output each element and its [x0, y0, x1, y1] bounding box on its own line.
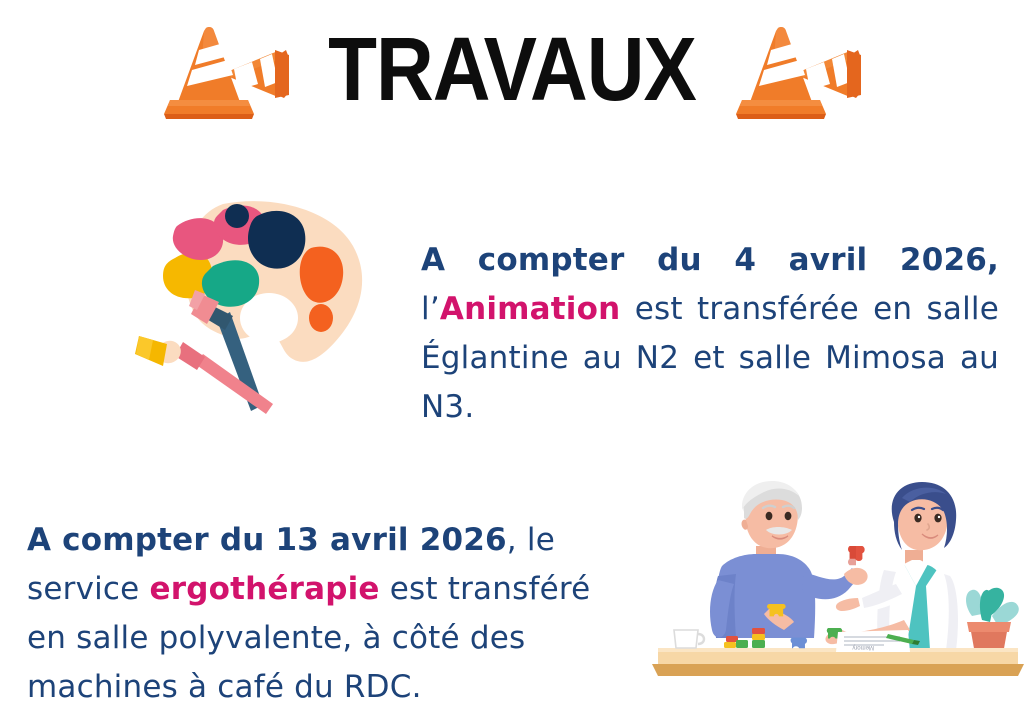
ergo-run-highlight: ergothérapie: [150, 571, 380, 607]
traffic-cone-pair-icon-right: [734, 14, 862, 126]
animation-run-lead: l’: [421, 291, 440, 327]
announcement-ergotherapie: A compter du 13 avril 2026, le service e…: [0, 470, 1024, 720]
page-title: TRAVAUX: [328, 25, 696, 115]
ergo-run-date: A compter du 13 avril 2026: [27, 522, 507, 558]
animation-run-highlight: Animation: [440, 291, 621, 327]
ergotherapy-session-illustration: Memory: [652, 480, 1024, 680]
potted-plant: [966, 588, 1019, 654]
therapist-figure: [825, 482, 958, 650]
paper-label: Memory: [852, 644, 874, 650]
patient-figure: [710, 481, 868, 638]
table: [652, 648, 1024, 676]
puzzle-piece-blue: [791, 637, 807, 648]
page-header: TRAVAUX: [0, 0, 1024, 140]
mug: [674, 630, 704, 648]
traffic-cone-pair-icon-left: [162, 14, 290, 126]
puzzle-piece-red: [848, 546, 865, 565]
ergotherapie-announcement-text: A compter du 13 avril 2026, le service e…: [27, 516, 617, 712]
paper-with-pen: Memory: [836, 630, 920, 652]
animation-run-date: A compter du 4 avril 2026,: [421, 242, 999, 278]
animation-announcement-text: A compter du 4 avril 2026, l’Animation e…: [421, 236, 999, 432]
paint-palette-illustration: [105, 190, 395, 420]
announcement-animation: A compter du 4 avril 2026, l’Animation e…: [0, 175, 1024, 425]
